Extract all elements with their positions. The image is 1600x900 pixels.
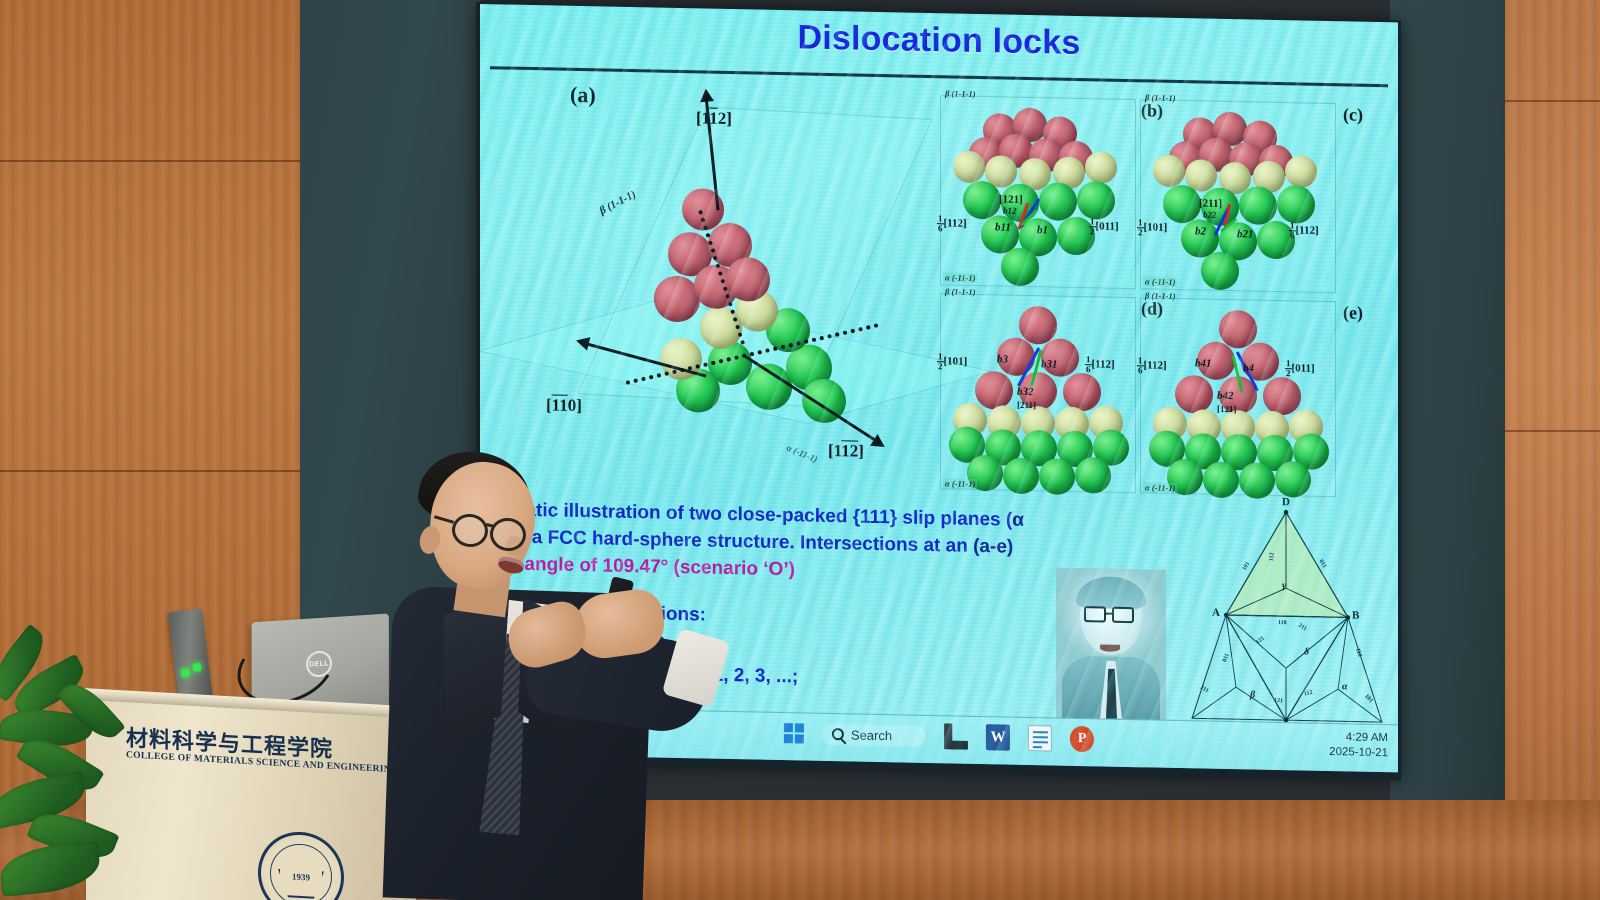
portrait-glasses-left bbox=[1084, 606, 1106, 622]
subpanel-letter-c: (c) bbox=[1343, 104, 1363, 125]
atom-red bbox=[1175, 375, 1213, 414]
word-icon[interactable]: W bbox=[986, 724, 1010, 750]
plane-label-top: β (1-1-1) bbox=[1145, 290, 1176, 301]
figure-panel-a: (a) [112] [110 bbox=[540, 77, 940, 497]
atom-red bbox=[1219, 310, 1257, 349]
search-icon bbox=[832, 728, 844, 740]
caption-ref: (a-e) bbox=[973, 536, 1013, 558]
atom-red bbox=[1063, 373, 1101, 412]
tetra-face-beta: β bbox=[1250, 689, 1255, 700]
vector-label-left-b: 16[112] bbox=[937, 214, 967, 234]
tetra-face-alpha: α bbox=[1342, 681, 1348, 692]
dark-wall-panel-right bbox=[1390, 0, 1510, 820]
burgers-label-b4: b4 bbox=[1243, 362, 1254, 374]
atom-pale bbox=[953, 150, 985, 183]
atom-green bbox=[1275, 461, 1311, 498]
panel-a-letter: (a) bbox=[570, 82, 596, 109]
vector-label-right-e: 12[011] bbox=[1285, 359, 1315, 379]
greek-alpha: α bbox=[1012, 510, 1024, 531]
subpanel-e: β (1-1-1) (e) bbox=[1140, 297, 1336, 497]
vector-label-left-d: 12[101] bbox=[937, 352, 967, 372]
plane-label-bottom: α (-11-1) bbox=[1143, 482, 1177, 493]
potted-plant bbox=[0, 640, 200, 900]
wall-seam bbox=[1505, 100, 1600, 102]
wall-seam bbox=[0, 160, 300, 162]
atom-pale bbox=[1085, 151, 1117, 184]
portrait-hair bbox=[1076, 576, 1146, 609]
subpanel-letter-e: (e) bbox=[1343, 302, 1363, 323]
atom-red bbox=[975, 371, 1013, 410]
plane-label-top: β (1-1-1) bbox=[945, 88, 976, 99]
atom-pale bbox=[1285, 155, 1317, 188]
plane-label-bottom: α (-11-1) bbox=[1143, 276, 1177, 287]
plant-leaf bbox=[0, 841, 102, 897]
tetra-vertex-A: A bbox=[1212, 607, 1220, 619]
subpanel-d: β (1-1-1) (d) bbox=[940, 293, 1136, 493]
atom-red bbox=[654, 275, 700, 322]
atom-green bbox=[1039, 182, 1077, 221]
axis-label-up: [112] bbox=[696, 108, 732, 129]
burgers-label-b3: b3 bbox=[997, 353, 1008, 365]
thompson-tetrahedron: D A B γ δ β α 112 011 101 211 110 121 01… bbox=[1186, 496, 1386, 725]
atom-red bbox=[726, 257, 770, 302]
tetra-index: 112 bbox=[1269, 552, 1276, 561]
burgers-label-b2: b2 bbox=[1195, 225, 1206, 237]
miller-index: [112] bbox=[1092, 358, 1115, 370]
atom-green bbox=[1239, 462, 1275, 499]
vector-label-left-e: 16[112] bbox=[1137, 356, 1167, 376]
taskbar-clock[interactable]: 4:29 AM 2025-10-21 bbox=[1329, 730, 1388, 761]
tetra-face-delta: δ bbox=[1304, 647, 1309, 658]
burgers-label-b41: b41 bbox=[1195, 357, 1212, 369]
miller-index: [011] bbox=[1292, 362, 1315, 374]
scientist-portrait bbox=[1056, 568, 1166, 720]
atom-green bbox=[1277, 185, 1315, 224]
clock-time: 4:29 AM bbox=[1329, 730, 1388, 746]
file-explorer-icon[interactable] bbox=[944, 723, 968, 749]
plane-label-bottom: α (-11-1) bbox=[943, 272, 977, 283]
tetra-vertex-B: B bbox=[1352, 610, 1359, 622]
taskbar-center-group: Search W P bbox=[784, 720, 1094, 752]
university-seal: 1939 bbox=[258, 830, 344, 900]
plane-label-bottom: α (-11-1) bbox=[943, 478, 977, 489]
burgers-label-b1: b1 bbox=[1037, 224, 1048, 236]
subpanel-b: β (1-1-1) (b) bbox=[940, 95, 1136, 289]
atom-green bbox=[1003, 457, 1039, 494]
index-label-bottom: [211] bbox=[1017, 400, 1036, 410]
atom-green bbox=[1001, 247, 1039, 286]
miller-index: [011] bbox=[1096, 220, 1119, 232]
miller-index: [112] bbox=[1296, 224, 1319, 236]
atom-green bbox=[1239, 186, 1277, 225]
figure-panels-bcde: β (1-1-1) (b) bbox=[940, 83, 1380, 507]
presenter-person bbox=[378, 448, 698, 900]
burgers-label-b21: b21 bbox=[1237, 228, 1254, 240]
atom-green bbox=[1077, 181, 1115, 220]
atom-green bbox=[1075, 457, 1111, 494]
atom-green bbox=[963, 181, 1001, 220]
windows-start-icon[interactable] bbox=[784, 723, 804, 743]
index-label-bottom: [121] bbox=[1217, 404, 1237, 414]
vector-label-left-c: 12[101] bbox=[1137, 218, 1167, 238]
index-label-top: [211] bbox=[1199, 197, 1222, 209]
atom-green bbox=[1201, 251, 1239, 290]
miller-index: [112] bbox=[1144, 359, 1167, 371]
wall-seam bbox=[1505, 430, 1600, 432]
plane-label-top: β (1-1-1) bbox=[1145, 92, 1176, 103]
axis-label-right: [112] bbox=[828, 441, 864, 462]
burgers-label-b12: b12 bbox=[1003, 205, 1017, 215]
plane-label-alpha: α (-11-1) bbox=[785, 443, 819, 465]
wood-wall-right bbox=[1505, 0, 1600, 900]
burgers-label-b32: b32 bbox=[1017, 386, 1034, 398]
vector-label-right-d: 16[112] bbox=[1085, 355, 1115, 375]
atom-red bbox=[1019, 306, 1057, 345]
lecture-room: Dislocation locks (a) bbox=[0, 0, 1600, 900]
miller-index: [101] bbox=[1144, 221, 1168, 233]
burgers-label-b31: b31 bbox=[1041, 358, 1058, 370]
subpanel-c: β (1-1-1) (c) bbox=[1140, 99, 1336, 293]
notepad-icon[interactable] bbox=[1028, 725, 1052, 751]
plane-label-beta: β (1-1-1) bbox=[597, 188, 638, 217]
atom-pale bbox=[1153, 155, 1185, 188]
slide-title: Dislocation locks bbox=[480, 12, 1398, 69]
burgers-label-b11: b11 bbox=[995, 221, 1011, 233]
seal-year: 1939 bbox=[292, 871, 310, 882]
atom-red bbox=[1263, 377, 1301, 416]
wall-seam bbox=[0, 470, 300, 472]
clock-date: 2025-10-21 bbox=[1329, 745, 1388, 761]
taskbar-search-box[interactable]: Search bbox=[822, 723, 926, 746]
portrait-glasses-bridge bbox=[1106, 613, 1112, 615]
plane-label-top: β (1-1-1) bbox=[945, 286, 976, 297]
search-placeholder-text: Search bbox=[851, 727, 892, 743]
tetra-index: 121 bbox=[1274, 697, 1284, 704]
powerpoint-icon[interactable]: P bbox=[1070, 726, 1094, 752]
burgers-label-b42: b42 bbox=[1217, 390, 1234, 402]
axis-label-left: [110] bbox=[546, 395, 582, 416]
atom-green bbox=[1203, 462, 1239, 499]
atom-green bbox=[1039, 458, 1075, 495]
vector-label-right-b: 12[011] bbox=[1089, 217, 1119, 237]
tetra-face-gamma: γ bbox=[1282, 580, 1286, 591]
tetra-vertex-D: D bbox=[1282, 496, 1290, 508]
index-label-top: [121] bbox=[999, 193, 1023, 205]
portrait-glasses-right bbox=[1112, 607, 1134, 623]
tetra-index: 110 bbox=[1278, 620, 1287, 626]
portrait-mouth bbox=[1100, 644, 1120, 651]
burgers-label-b22: b22 bbox=[1203, 210, 1217, 220]
miller-index: [101] bbox=[944, 355, 968, 367]
miller-index: [112] bbox=[944, 217, 967, 229]
atom-green bbox=[1163, 185, 1201, 224]
vector-label-right-c: 16[112] bbox=[1289, 221, 1319, 241]
